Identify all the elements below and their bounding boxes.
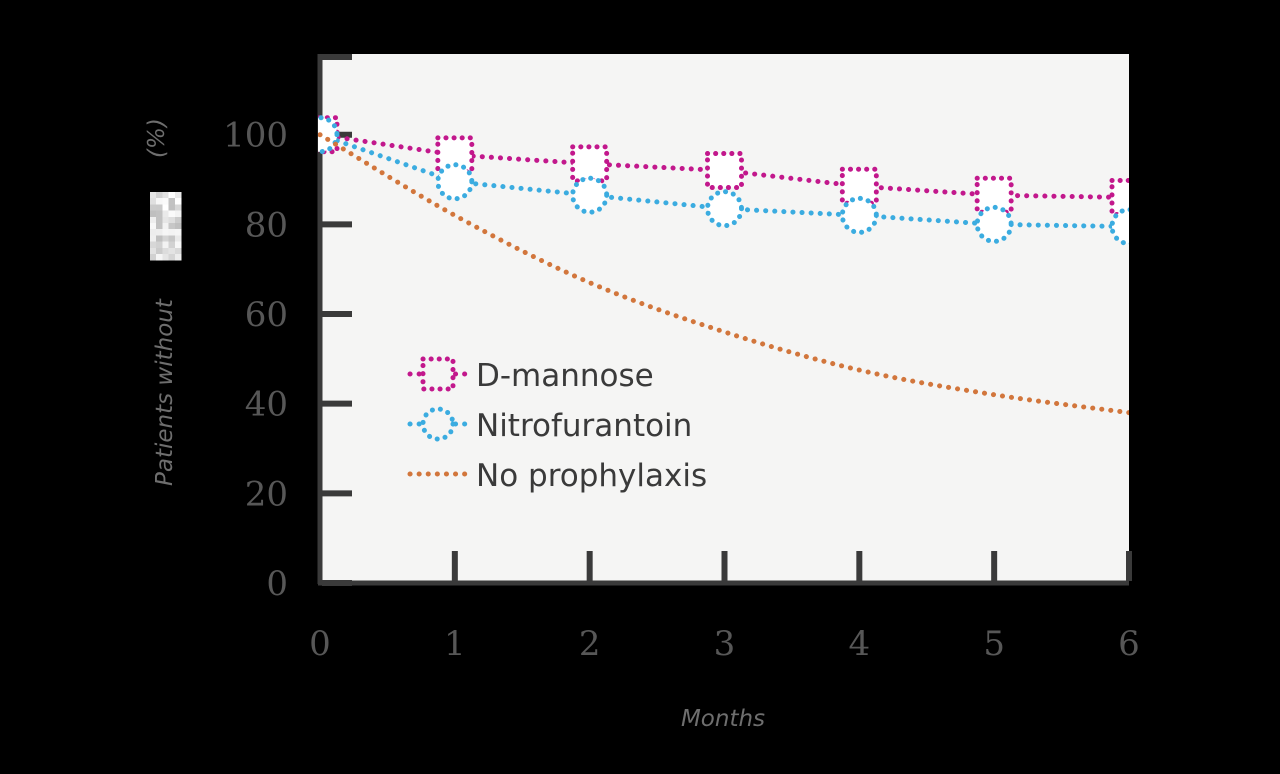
- redacted-pixel: [156, 235, 163, 242]
- redacted-pixel: [156, 248, 163, 255]
- redacted-pixel: [169, 198, 176, 205]
- data-point-marker: [708, 154, 742, 188]
- redacted-pixel: [162, 223, 169, 230]
- y-axis-title-suffix: (%): [144, 118, 170, 158]
- chart-figure: 020406080100 0123456 D-mannoseNitrofuran…: [0, 0, 1280, 774]
- legend-label: No prophylaxis: [476, 458, 707, 494]
- x-tick-label: 4: [849, 624, 871, 664]
- x-tick-label: 3: [714, 624, 736, 664]
- redacted-pixel: [169, 235, 176, 242]
- redacted-pixel: [162, 204, 169, 211]
- redacted-pixel: [162, 198, 169, 205]
- redacted-pixel: [156, 254, 163, 261]
- redacted-pixel: [150, 198, 157, 205]
- redacted-pixel: [156, 229, 163, 236]
- redacted-pixel: [169, 217, 176, 224]
- y-axis-title: (%) Patients without: [144, 118, 178, 486]
- redacted-pixel: [162, 211, 169, 218]
- redacted-block: [150, 192, 182, 261]
- redacted-pixel: [156, 217, 163, 224]
- redacted-pixel: [150, 211, 157, 218]
- redacted-pixel: [162, 248, 169, 255]
- redacted-pixel: [169, 254, 176, 261]
- y-tick-label: 0: [266, 564, 288, 604]
- legend-marker-swatch: [423, 359, 453, 389]
- redacted-pixel: [156, 198, 163, 205]
- y-axis-title-prefix: Patients without: [152, 298, 178, 486]
- redacted-pixel: [175, 204, 182, 211]
- x-tick-label: 2: [579, 624, 601, 664]
- redacted-pixel: [150, 223, 157, 230]
- redacted-pixel: [175, 211, 182, 218]
- redacted-pixel: [169, 192, 176, 199]
- redacted-pixel: [156, 204, 163, 211]
- data-point-marker: [1112, 210, 1146, 244]
- redacted-pixel: [175, 235, 182, 242]
- x-axis-tick-labels: 0123456: [309, 624, 1140, 664]
- redacted-pixel: [175, 254, 182, 261]
- redacted-pixel: [169, 248, 176, 255]
- x-tick-label: 6: [1118, 624, 1140, 664]
- redacted-pixel: [162, 242, 169, 249]
- legend-label: D-mannose: [476, 358, 654, 394]
- redacted-pixel: [156, 242, 163, 249]
- y-tick-label: 100: [223, 116, 288, 156]
- redacted-pixel: [150, 242, 157, 249]
- redacted-pixel: [162, 192, 169, 199]
- redacted-pixel: [150, 235, 157, 242]
- redacted-pixel: [175, 192, 182, 199]
- redacted-pixel: [162, 217, 169, 224]
- legend-entry[interactable]: D-mannose: [410, 358, 654, 394]
- redacted-pixel: [150, 254, 157, 261]
- legend-label: Nitrofurantoin: [476, 408, 692, 444]
- data-point-marker: [438, 165, 472, 199]
- data-point-marker: [842, 198, 876, 232]
- redacted-pixel: [150, 192, 157, 199]
- redacted-pixel: [150, 204, 157, 211]
- legend-marker-swatch: [423, 409, 453, 439]
- redacted-pixel: [156, 211, 163, 218]
- redacted-pixel: [175, 198, 182, 205]
- data-point-marker: [977, 207, 1011, 241]
- data-point-marker: [573, 147, 607, 181]
- data-point-marker: [708, 192, 742, 226]
- redacted-pixel: [175, 223, 182, 230]
- redacted-pixel: [156, 192, 163, 199]
- redacted-pixel: [175, 229, 182, 236]
- redacted-pixel: [175, 242, 182, 249]
- y-tick-label: 20: [245, 474, 288, 514]
- redacted-pixel: [169, 211, 176, 218]
- redacted-pixel: [162, 235, 169, 242]
- x-tick-label: 5: [983, 624, 1005, 664]
- plot-area-background: [318, 54, 1129, 583]
- x-tick-label: 1: [444, 624, 466, 664]
- redacted-pixel: [175, 248, 182, 255]
- redacted-pixel: [169, 223, 176, 230]
- x-axis-title: Months: [681, 706, 765, 732]
- data-point-marker: [573, 178, 607, 212]
- redacted-pixel: [156, 223, 163, 230]
- redacted-pixel: [175, 217, 182, 224]
- redacted-pixel: [169, 229, 176, 236]
- redacted-pixel: [150, 229, 157, 236]
- redacted-pixel: [150, 248, 157, 255]
- line-chart: 020406080100 0123456 D-mannoseNitrofuran…: [0, 0, 1280, 774]
- y-tick-label: 80: [245, 205, 288, 245]
- redacted-pixel: [169, 204, 176, 211]
- y-tick-label: 40: [245, 385, 288, 425]
- redacted-pixel: [162, 254, 169, 261]
- redacted-pixel: [162, 229, 169, 236]
- redacted-pixel: [169, 242, 176, 249]
- y-axis-tick-labels: 020406080100: [223, 116, 288, 604]
- redacted-pixel: [150, 217, 157, 224]
- y-tick-label: 60: [245, 295, 288, 335]
- x-tick-label: 0: [309, 624, 331, 664]
